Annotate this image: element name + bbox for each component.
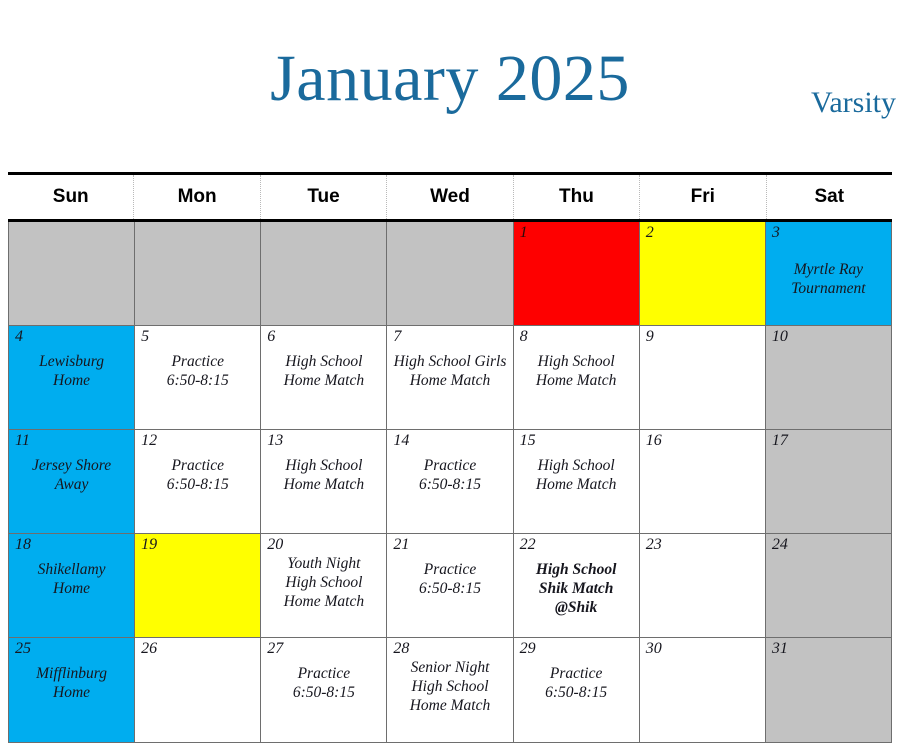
day-events: Senior NightHigh SchoolHome Match <box>389 658 510 715</box>
calendar-day-cell-24[interactable]: 24 <box>766 534 891 638</box>
event-line: Practice <box>389 456 510 475</box>
day-number: 30 <box>646 640 662 658</box>
event-line: Home Match <box>263 475 384 494</box>
calendar-week-row: 123Myrtle RayTournament <box>9 222 891 326</box>
day-events: Practice6:50-8:15 <box>516 664 637 702</box>
calendar-day-cell-22[interactable]: 22High SchoolShik Match@Shik <box>514 534 640 638</box>
day-number: 22 <box>520 536 536 554</box>
day-events: Practice6:50-8:15 <box>137 456 258 494</box>
event-line: Practice <box>516 664 637 683</box>
day-events: High SchoolHome Match <box>263 352 384 390</box>
calendar-day-cell-5[interactable]: 5Practice6:50-8:15 <box>135 326 261 430</box>
day-of-week-header-thu: Thu <box>514 175 640 219</box>
day-events: Practice6:50-8:15 <box>263 664 384 702</box>
day-of-week-header-row: SunMonTueWedThuFriSat <box>8 172 892 222</box>
calendar-week-rows: 123Myrtle RayTournament4LewisburgHome5Pr… <box>8 222 892 743</box>
event-line: Lewisburg <box>11 352 132 371</box>
calendar-week-row: 11Jersey ShoreAway12Practice6:50-8:1513H… <box>9 430 891 534</box>
day-events: High SchoolHome Match <box>516 352 637 390</box>
day-number: 23 <box>646 536 662 554</box>
calendar-day-cell-21[interactable]: 21Practice6:50-8:15 <box>387 534 513 638</box>
event-line: Home <box>11 579 132 598</box>
calendar-day-cell-20[interactable]: 20Youth NightHigh SchoolHome Match <box>261 534 387 638</box>
event-line: Senior Night <box>389 658 510 677</box>
event-line: High School <box>263 573 384 592</box>
day-number: 16 <box>646 432 662 450</box>
calendar-day-cell-26[interactable]: 26 <box>135 638 261 742</box>
day-events: LewisburgHome <box>11 352 132 390</box>
day-number: 29 <box>520 640 536 658</box>
calendar-day-cell-19[interactable]: 19 <box>135 534 261 638</box>
event-line: 6:50-8:15 <box>263 683 384 702</box>
event-line: Practice <box>263 664 384 683</box>
event-line: Jersey Shore <box>11 456 132 475</box>
event-line: Practice <box>389 560 510 579</box>
day-number: 15 <box>520 432 536 450</box>
event-line: High School <box>263 456 384 475</box>
day-number: 1 <box>520 224 528 242</box>
calendar-day-cell-1[interactable]: 1 <box>514 222 640 326</box>
event-line: 6:50-8:15 <box>389 579 510 598</box>
day-number: 10 <box>772 328 788 346</box>
day-of-week-header-wed: Wed <box>387 175 513 219</box>
calendar-day-cell-empty[interactable] <box>261 222 387 326</box>
calendar-day-cell-27[interactable]: 27Practice6:50-8:15 <box>261 638 387 742</box>
event-line: High School <box>516 560 637 579</box>
day-number: 9 <box>646 328 654 346</box>
calendar-day-cell-31[interactable]: 31 <box>766 638 891 742</box>
day-number: 6 <box>267 328 275 346</box>
event-line: Practice <box>137 352 258 371</box>
day-number: 19 <box>141 536 157 554</box>
calendar-day-cell-30[interactable]: 30 <box>640 638 766 742</box>
day-events: ShikellamyHome <box>11 560 132 598</box>
day-of-week-header-fri: Fri <box>640 175 766 219</box>
day-of-week-header-sat: Sat <box>767 175 892 219</box>
calendar-week-row: 4LewisburgHome5Practice6:50-8:156High Sc… <box>9 326 891 430</box>
day-events: Practice6:50-8:15 <box>389 456 510 494</box>
event-line: Away <box>11 475 132 494</box>
day-of-week-header-sun: Sun <box>8 175 134 219</box>
event-line: Shikellamy <box>11 560 132 579</box>
calendar-day-cell-6[interactable]: 6High SchoolHome Match <box>261 326 387 430</box>
day-number: 21 <box>393 536 409 554</box>
calendar-day-cell-7[interactable]: 7High School GirlsHome Match <box>387 326 513 430</box>
day-number: 28 <box>393 640 409 658</box>
day-events: High SchoolShik Match@Shik <box>516 560 637 617</box>
calendar-day-cell-18[interactable]: 18ShikellamyHome <box>9 534 135 638</box>
event-line: High School <box>516 352 637 371</box>
day-number: 4 <box>15 328 23 346</box>
calendar-day-cell-empty[interactable] <box>135 222 261 326</box>
event-line: 6:50-8:15 <box>137 371 258 390</box>
day-number: 3 <box>772 224 780 242</box>
day-number: 20 <box>267 536 283 554</box>
calendar-day-cell-25[interactable]: 25MifflinburgHome <box>9 638 135 742</box>
event-line: High School <box>516 456 637 475</box>
calendar-day-cell-29[interactable]: 29Practice6:50-8:15 <box>514 638 640 742</box>
event-line: Myrtle Ray <box>768 260 889 279</box>
event-line: 6:50-8:15 <box>516 683 637 702</box>
calendar-day-cell-2[interactable]: 2 <box>640 222 766 326</box>
day-number: 27 <box>267 640 283 658</box>
event-line: High School <box>389 677 510 696</box>
event-line: Shik Match <box>516 579 637 598</box>
calendar-day-cell-14[interactable]: 14Practice6:50-8:15 <box>387 430 513 534</box>
day-number: 11 <box>15 432 30 450</box>
calendar-day-cell-3[interactable]: 3Myrtle RayTournament <box>766 222 891 326</box>
calendar-header: January 2025 Varsity <box>0 0 900 172</box>
day-number: 5 <box>141 328 149 346</box>
day-of-week-header-mon: Mon <box>134 175 260 219</box>
calendar-grid: SunMonTueWedThuFriSat 123Myrtle RayTourn… <box>8 172 892 743</box>
page-title: January 2025 <box>0 46 900 112</box>
event-line: Tournament <box>768 279 889 298</box>
day-events: Myrtle RayTournament <box>768 260 889 298</box>
calendar-day-cell-16[interactable]: 16 <box>640 430 766 534</box>
day-events: High SchoolHome Match <box>263 456 384 494</box>
calendar-week-row: 25MifflinburgHome2627Practice6:50-8:1528… <box>9 638 891 742</box>
calendar-day-cell-10[interactable]: 10 <box>766 326 891 430</box>
event-line: 6:50-8:15 <box>389 475 510 494</box>
calendar-day-cell-empty[interactable] <box>9 222 135 326</box>
day-events: Jersey ShoreAway <box>11 456 132 494</box>
day-of-week-header-tue: Tue <box>261 175 387 219</box>
event-line: @Shik <box>516 598 637 617</box>
calendar-day-cell-15[interactable]: 15High SchoolHome Match <box>514 430 640 534</box>
day-events: High School GirlsHome Match <box>389 352 510 390</box>
event-line: Home Match <box>516 371 637 390</box>
day-number: 14 <box>393 432 409 450</box>
day-number: 7 <box>393 328 401 346</box>
event-line: 6:50-8:15 <box>137 475 258 494</box>
day-number: 8 <box>520 328 528 346</box>
day-events: Youth NightHigh SchoolHome Match <box>263 554 384 611</box>
calendar-page: January 2025 Varsity SunMonTueWedThuFriS… <box>0 0 900 750</box>
day-events: Practice6:50-8:15 <box>137 352 258 390</box>
day-number: 2 <box>646 224 654 242</box>
day-number: 13 <box>267 432 283 450</box>
calendar-day-cell-empty[interactable] <box>387 222 513 326</box>
event-line: High School Girls <box>389 352 510 371</box>
calendar-day-cell-23[interactable]: 23 <box>640 534 766 638</box>
calendar-subtitle: Varsity <box>811 88 896 118</box>
calendar-day-cell-8[interactable]: 8High SchoolHome Match <box>514 326 640 430</box>
calendar-day-cell-12[interactable]: 12Practice6:50-8:15 <box>135 430 261 534</box>
day-events: Practice6:50-8:15 <box>389 560 510 598</box>
calendar-day-cell-9[interactable]: 9 <box>640 326 766 430</box>
day-number: 17 <box>772 432 788 450</box>
event-line: Home Match <box>516 475 637 494</box>
calendar-day-cell-4[interactable]: 4LewisburgHome <box>9 326 135 430</box>
event-line: Home Match <box>389 696 510 715</box>
day-number: 25 <box>15 640 31 658</box>
calendar-day-cell-17[interactable]: 17 <box>766 430 891 534</box>
day-events: MifflinburgHome <box>11 664 132 702</box>
event-line: Practice <box>137 456 258 475</box>
event-line: Youth Night <box>263 554 384 573</box>
event-line: Home <box>11 683 132 702</box>
event-line: Home Match <box>263 371 384 390</box>
day-number: 18 <box>15 536 31 554</box>
day-number: 26 <box>141 640 157 658</box>
calendar-day-cell-28[interactable]: 28Senior NightHigh SchoolHome Match <box>387 638 513 742</box>
day-number: 24 <box>772 536 788 554</box>
day-number: 31 <box>772 640 788 658</box>
calendar-week-row: 18ShikellamyHome1920Youth NightHigh Scho… <box>9 534 891 638</box>
event-line: Home <box>11 371 132 390</box>
calendar-day-cell-13[interactable]: 13High SchoolHome Match <box>261 430 387 534</box>
calendar-day-cell-11[interactable]: 11Jersey ShoreAway <box>9 430 135 534</box>
event-line: Mifflinburg <box>11 664 132 683</box>
event-line: High School <box>263 352 384 371</box>
event-line: Home Match <box>263 592 384 611</box>
day-events: High SchoolHome Match <box>516 456 637 494</box>
event-line: Home Match <box>389 371 510 390</box>
day-number: 12 <box>141 432 157 450</box>
